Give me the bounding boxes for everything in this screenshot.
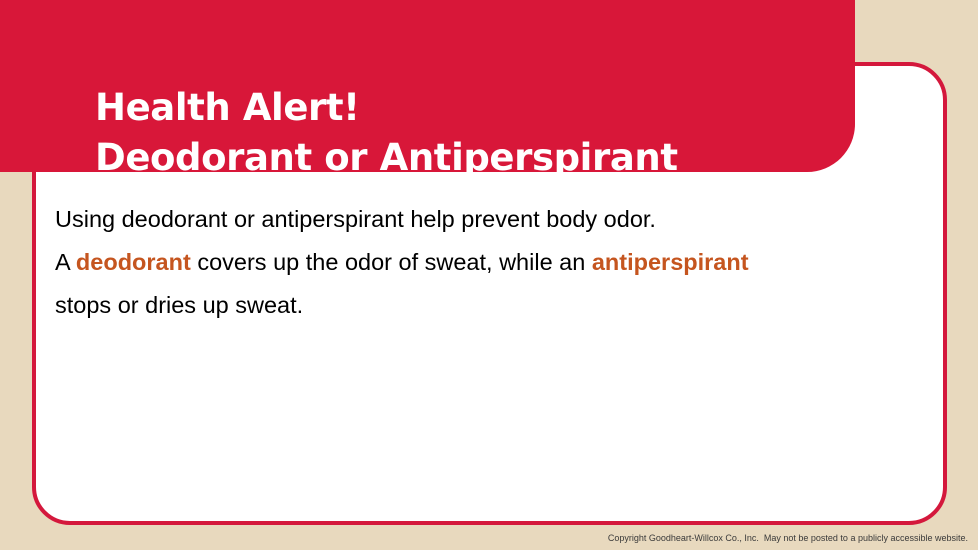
slide-title-line-2: Deodorant or Antiperspirant <box>95 133 678 183</box>
body-line-2-prefix: A <box>55 249 76 275</box>
slide-title-line-1: Health Alert! <box>95 83 678 133</box>
body-line-2-middle: covers up the odor of sweat, while an <box>191 249 592 275</box>
body-copy: Using deodorant or antiperspirant help p… <box>55 198 915 327</box>
slide: Health Alert! Deodorant or Antiperspiran… <box>0 0 978 550</box>
body-paragraph-1: Using deodorant or antiperspirant help p… <box>55 198 915 241</box>
body-line-1-text: Using deodorant or antiperspirant help p… <box>55 206 656 232</box>
copyright-notice: Copyright Goodheart-Willcox Co., Inc. Ma… <box>0 532 968 544</box>
term-deodorant: deodorant <box>76 249 191 275</box>
body-paragraph-2: A deodorant covers up the odor of sweat,… <box>55 241 915 284</box>
slide-title-group: Health Alert! Deodorant or Antiperspiran… <box>95 83 678 183</box>
body-paragraph-3: stops or dries up sweat. <box>55 284 915 327</box>
term-antiperspirant: antiperspirant <box>592 249 749 275</box>
body-line-3-text: stops or dries up sweat. <box>55 292 303 318</box>
